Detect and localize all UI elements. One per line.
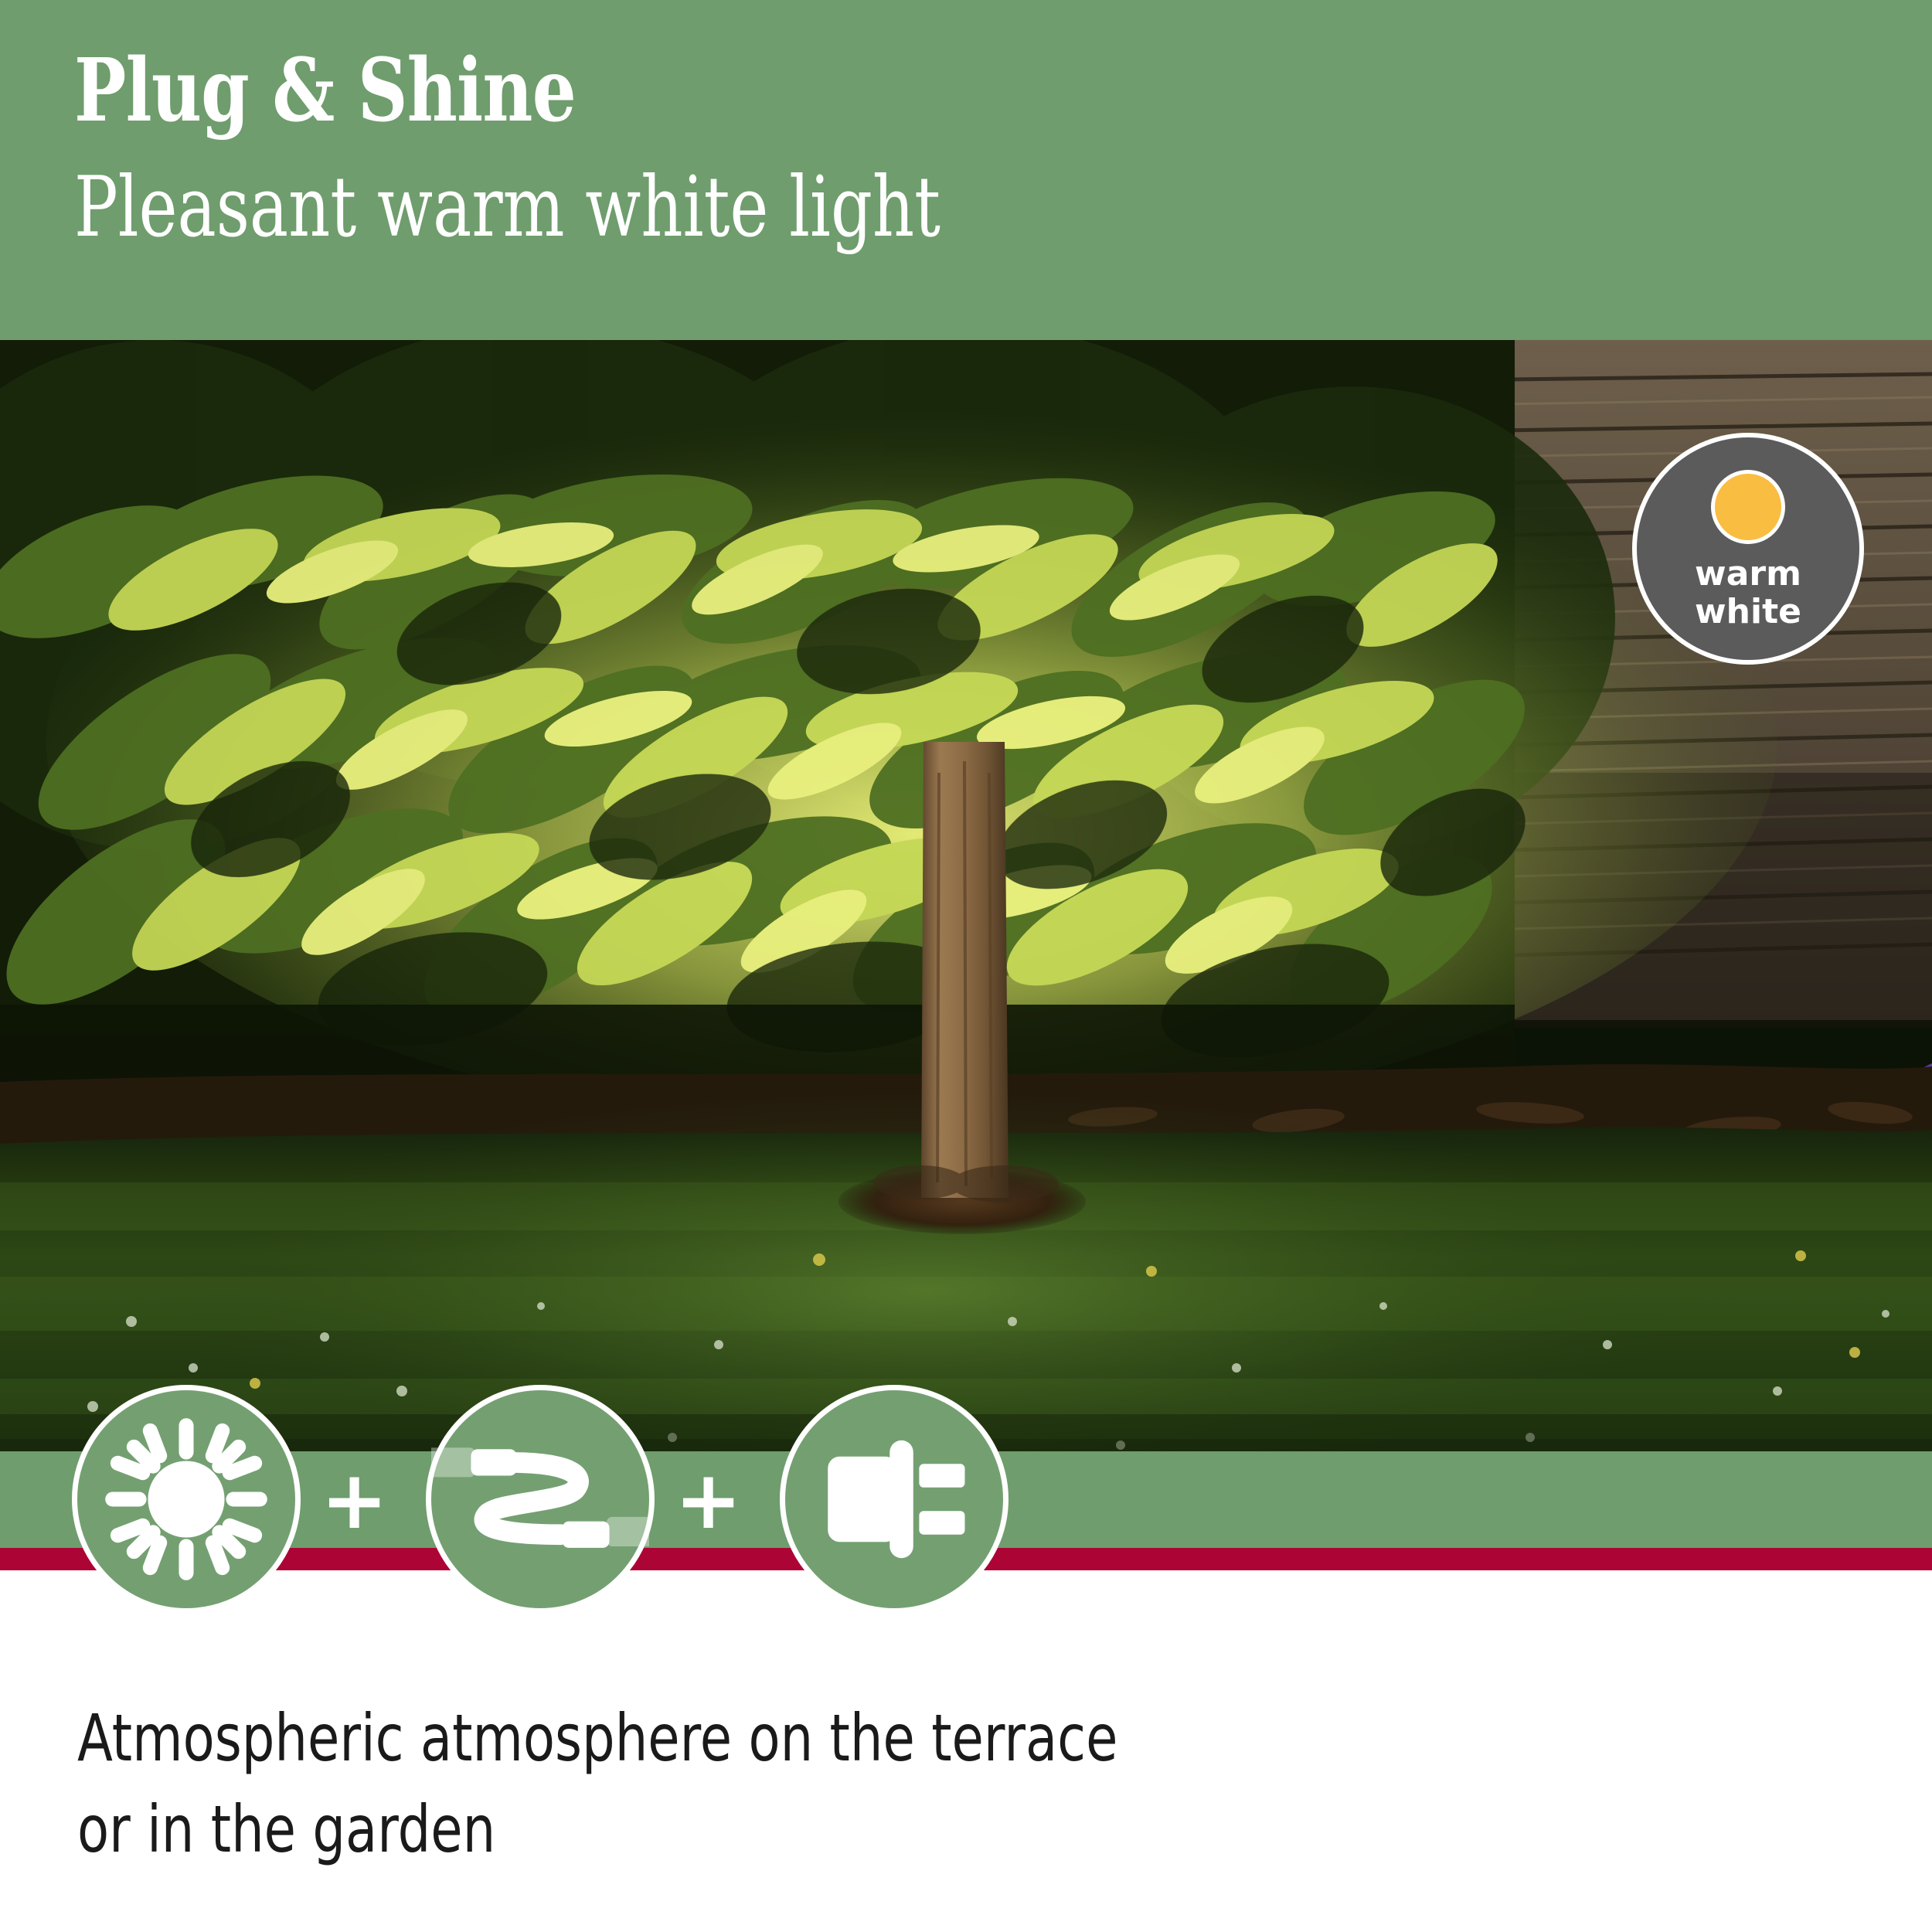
feature-icon-cable[interactable] (426, 1385, 655, 1614)
badge-line-2: white (1637, 593, 1859, 631)
feature-icon-light[interactable] (72, 1385, 301, 1614)
warm-white-color-dot (1711, 470, 1785, 544)
warm-white-badge-label: warm white (1637, 555, 1859, 631)
plus-separator-1: + (321, 1470, 383, 1532)
cable-connector-icon (431, 1390, 649, 1608)
brand-title: Plug & Shine (74, 48, 576, 134)
header-band: Plug & Shine Pleasant warm white light (0, 0, 1932, 340)
plus-separator-2: + (675, 1470, 736, 1532)
warm-white-badge: warm white (1632, 433, 1864, 665)
caption-text: Atmospheric atmosphere on the terrace or… (77, 1692, 1314, 1875)
power-plug-icon (785, 1390, 1003, 1608)
header-tagline: Pleasant warm white light (74, 166, 940, 250)
sun-light-icon (77, 1390, 295, 1608)
marketing-banner: Plug & Shine Pleasant warm white light (0, 0, 1932, 1932)
feature-icon-plug[interactable] (780, 1385, 1009, 1614)
badge-line-1: warm (1637, 555, 1859, 593)
